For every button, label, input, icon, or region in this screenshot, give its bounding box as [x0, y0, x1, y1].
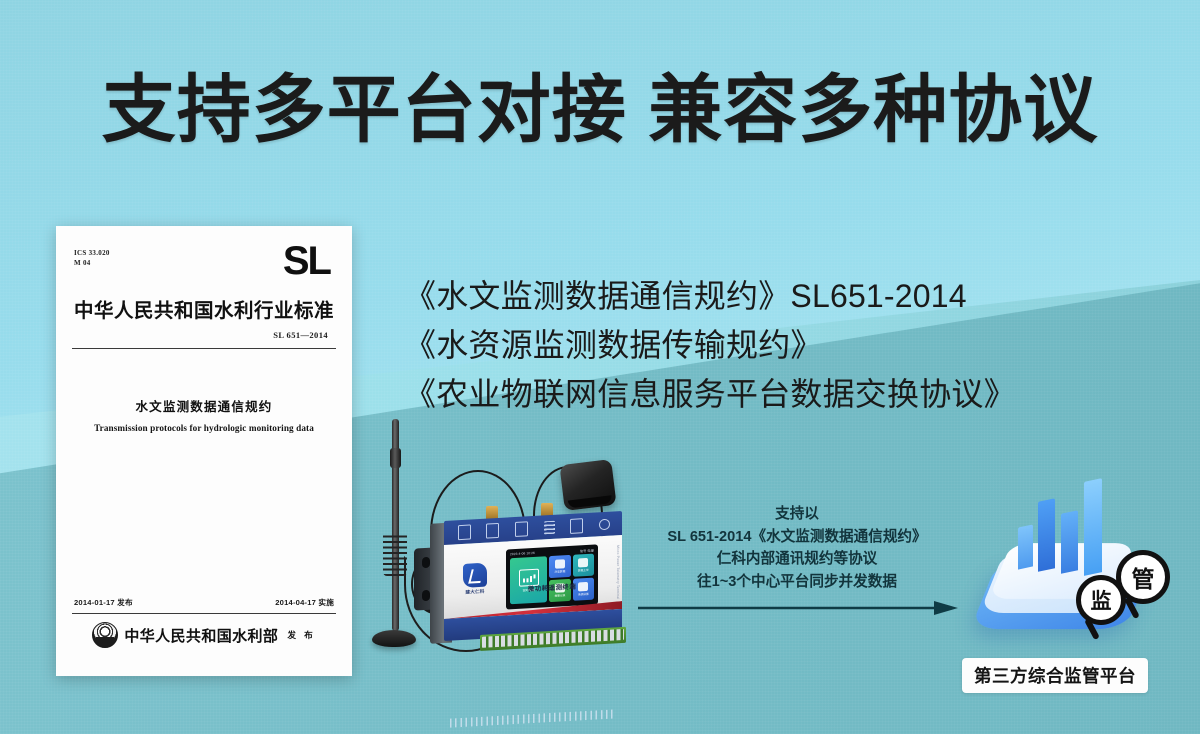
gps-puck-antenna-icon — [559, 459, 616, 511]
cloud-upload-icon — [578, 558, 588, 568]
promo-banner: 支持多平台对接 兼容多种协议 ICS 33.020 M 04 SL 中华人民共和… — [0, 0, 1200, 734]
right-arrow-icon — [638, 601, 958, 615]
flow-description-line: SL 651-2014《水文监测数据通信规约》 — [628, 526, 966, 549]
flow-description: 支持以 SL 651-2014《水文监测数据通信规约》 仁科内部通讯规约等协议 … — [628, 503, 966, 593]
port-rs485-icon — [486, 522, 499, 538]
port-lora-icon — [599, 518, 610, 530]
class-code: M 04 — [74, 258, 110, 268]
antenna-magnetic-base — [372, 630, 416, 647]
rika-logo-icon — [463, 563, 487, 588]
tile-label: 系统设置 — [578, 592, 589, 597]
document-subject-cn: 水文监测数据通信规约 — [72, 396, 336, 415]
page-title: 支持多平台对接 兼容多种协议 — [0, 62, 1200, 158]
3d-bar-chart-icon — [1084, 478, 1102, 576]
3d-bar-chart-icon — [1018, 524, 1033, 569]
water-resources-emblem-icon — [92, 622, 118, 648]
flow-description-line: 仁科内部通讯规约等协议 — [628, 548, 966, 571]
screen-small-tiles: 历史数据 数据上传 报警记录 系统设置 — [549, 554, 594, 603]
screen-tile-grid: 实时数据 历史数据 数据上传 报警记录 — [508, 552, 596, 605]
document-issue-date: 2014-01-17 发布 — [74, 597, 133, 608]
protocol-item: 《水文监测数据通信规约》SL651-2014 — [404, 272, 1104, 321]
ics-number: ICS 33.020 — [74, 248, 110, 258]
platform-illustration: 监 管 — [966, 478, 1176, 668]
antenna-joint — [390, 448, 401, 468]
platform-label: 第三方综合监管平台 — [962, 658, 1148, 693]
tile-label: 报警记录 — [555, 593, 566, 598]
3d-bar-chart-icon — [1038, 498, 1055, 572]
document-issuer: 中华人民共和国水利部 发 布 — [72, 622, 336, 648]
document-divider-bottom — [72, 613, 336, 614]
document-issuer-verb: 发 布 — [287, 629, 315, 641]
magnifier-char: 管 — [1132, 560, 1155, 594]
device-brand-text: 建大仁科 — [454, 588, 496, 596]
magnifier-icon: 管 — [1116, 550, 1170, 604]
device-brand: 建大仁科 — [454, 562, 496, 596]
tile-label: 历史数据 — [555, 569, 566, 574]
screen-tile-history[interactable]: 历史数据 — [549, 555, 570, 578]
protocol-item: 《农业物联网信息服务平台数据交换协议》 — [404, 370, 1104, 419]
document-subject-en: Transmission protocols for hydrologic mo… — [72, 423, 336, 433]
port-gps-icon — [515, 521, 528, 537]
flow-description-line: 往1~3个中心平台同步并发数据 — [628, 571, 966, 594]
device-touchscreen[interactable]: 2023-4-06 10:26 信号 电量 实时数据 历史数据 — [506, 544, 598, 609]
document-standard-code: SL 651—2014 — [273, 330, 328, 340]
device-side-text: Micro Power Telemetry Terminal — [616, 545, 620, 599]
document-ics-code: ICS 33.020 M 04 — [74, 248, 110, 268]
port-antenna-icon — [458, 524, 471, 540]
sl-logo: SL — [283, 240, 330, 282]
trend-chart-icon — [555, 559, 565, 569]
screen-indicators: 信号 电量 — [580, 547, 594, 553]
rtu-device: 建大仁科 2023-4-06 10:26 信号 电量 实时数据 历史数据 — [444, 511, 622, 643]
screen-tile-upload[interactable]: 数据上传 — [573, 554, 594, 577]
tile-label: 数据上传 — [578, 568, 589, 573]
3d-bar-chart-icon — [1061, 510, 1078, 574]
document-divider-top — [72, 348, 336, 349]
standard-document-cover: ICS 33.020 M 04 SL 中华人民共和国水利行业标准 SL 651—… — [56, 226, 352, 676]
document-title: 中华人民共和国水利行业标准 — [72, 294, 336, 323]
magnifier-char: 监 — [1091, 585, 1112, 615]
document-dates: 2014-01-17 发布 2014-04-17 实施 — [74, 597, 334, 608]
port-sim-icon — [570, 518, 583, 534]
screen-tile-realtime[interactable]: 实时数据 — [510, 556, 547, 604]
document-issuer-name: 中华人民共和国水利部 — [124, 625, 278, 646]
document-effective-date: 2014-04-17 实施 — [275, 597, 334, 608]
protocol-item: 《水资源监测数据传输规约》 — [404, 321, 1104, 370]
flow-description-line: 支持以 — [628, 503, 966, 526]
port-dido-icon — [544, 520, 555, 534]
protocol-list: 《水文监测数据通信规约》SL651-2014 《水资源监测数据传输规约》 《农业… — [404, 272, 1104, 419]
